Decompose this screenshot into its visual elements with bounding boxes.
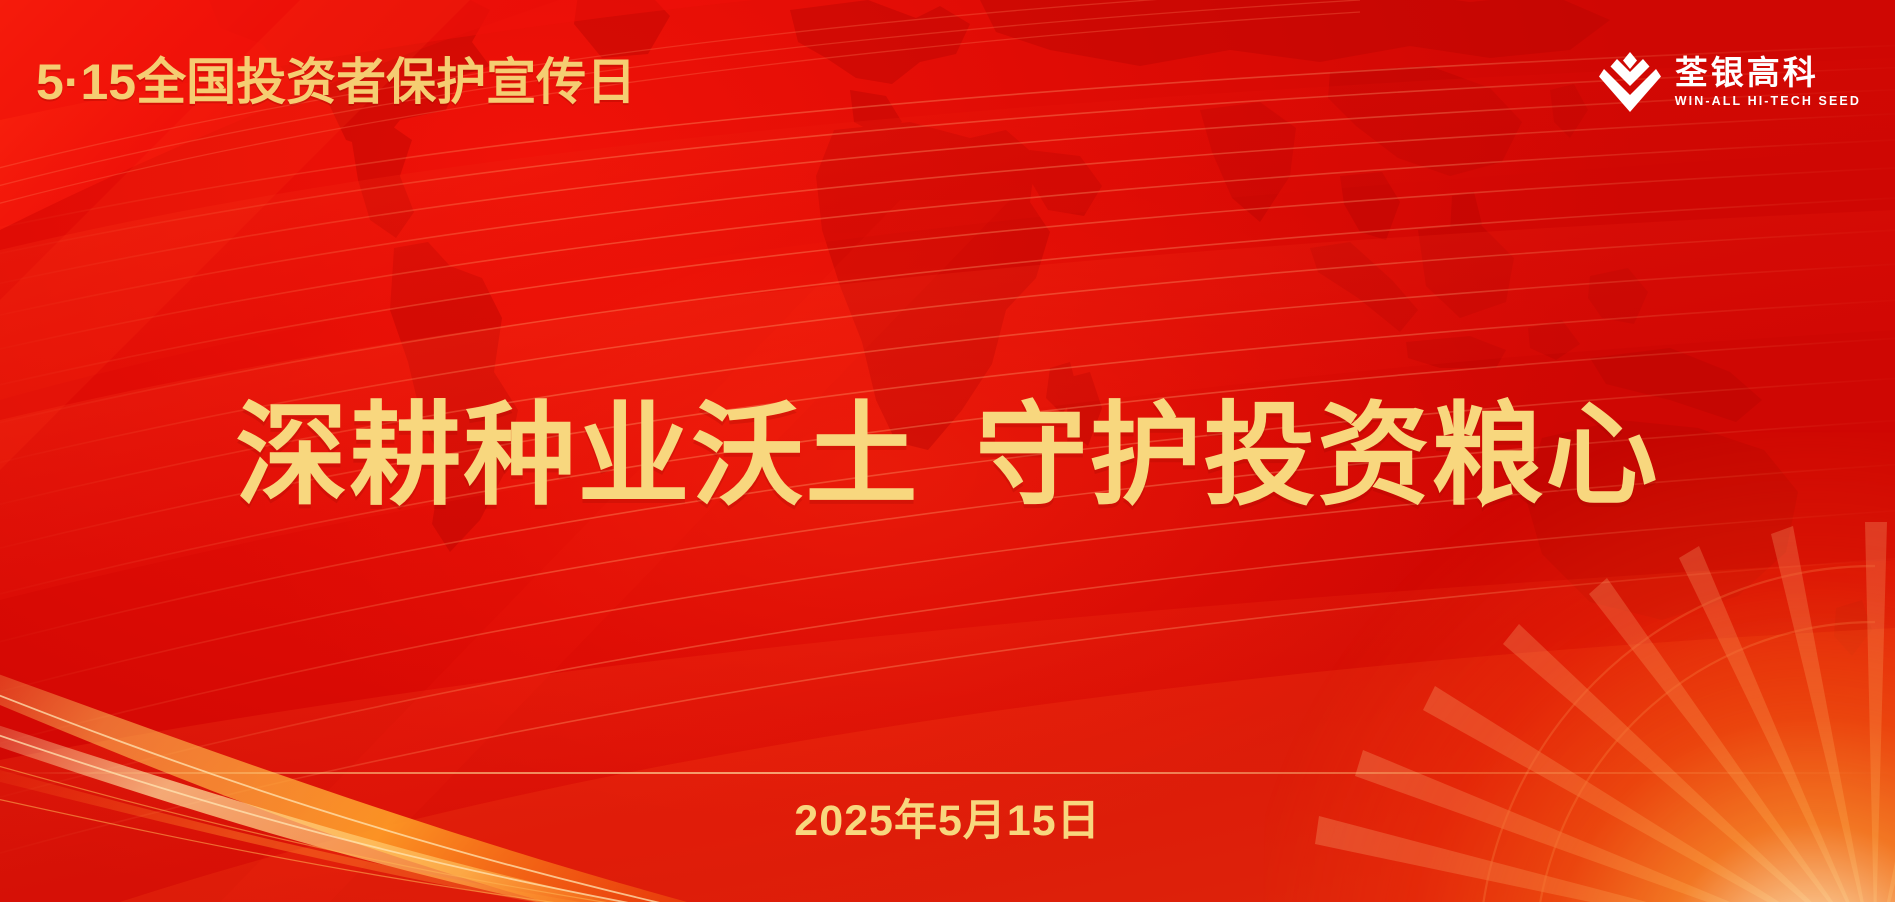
banner-content: 5·15全国投资者保护宣传日 深耕种业沃土守护投资粮心 2025年5月15日 荃… [0, 0, 1895, 902]
event-date: 2025年5月15日 [0, 800, 1895, 843]
headline-part-left: 深耕种业沃土 [236, 393, 920, 518]
campaign-kicker-title: 5·15全国投资者保护宣传日 [36, 56, 636, 109]
investor-protection-banner: 5·15全国投资者保护宣传日 深耕种业沃土守护投资粮心 2025年5月15日 荃… [0, 0, 1895, 902]
logo-name-cn: 荃银高科 [1675, 55, 1861, 92]
headline-part-right: 守护投资粮心 [976, 393, 1660, 518]
company-logo: 荃银高科 WIN-ALL HI-TECH SEED [1599, 50, 1861, 114]
logo-name-en: WIN-ALL HI-TECH SEED [1675, 94, 1861, 109]
logo-wordmark: 荃银高科 WIN-ALL HI-TECH SEED [1675, 55, 1861, 110]
main-headline: 深耕种业沃土守护投资粮心 [0, 400, 1895, 512]
win-all-seed-chevron-logo-icon [1599, 50, 1661, 114]
